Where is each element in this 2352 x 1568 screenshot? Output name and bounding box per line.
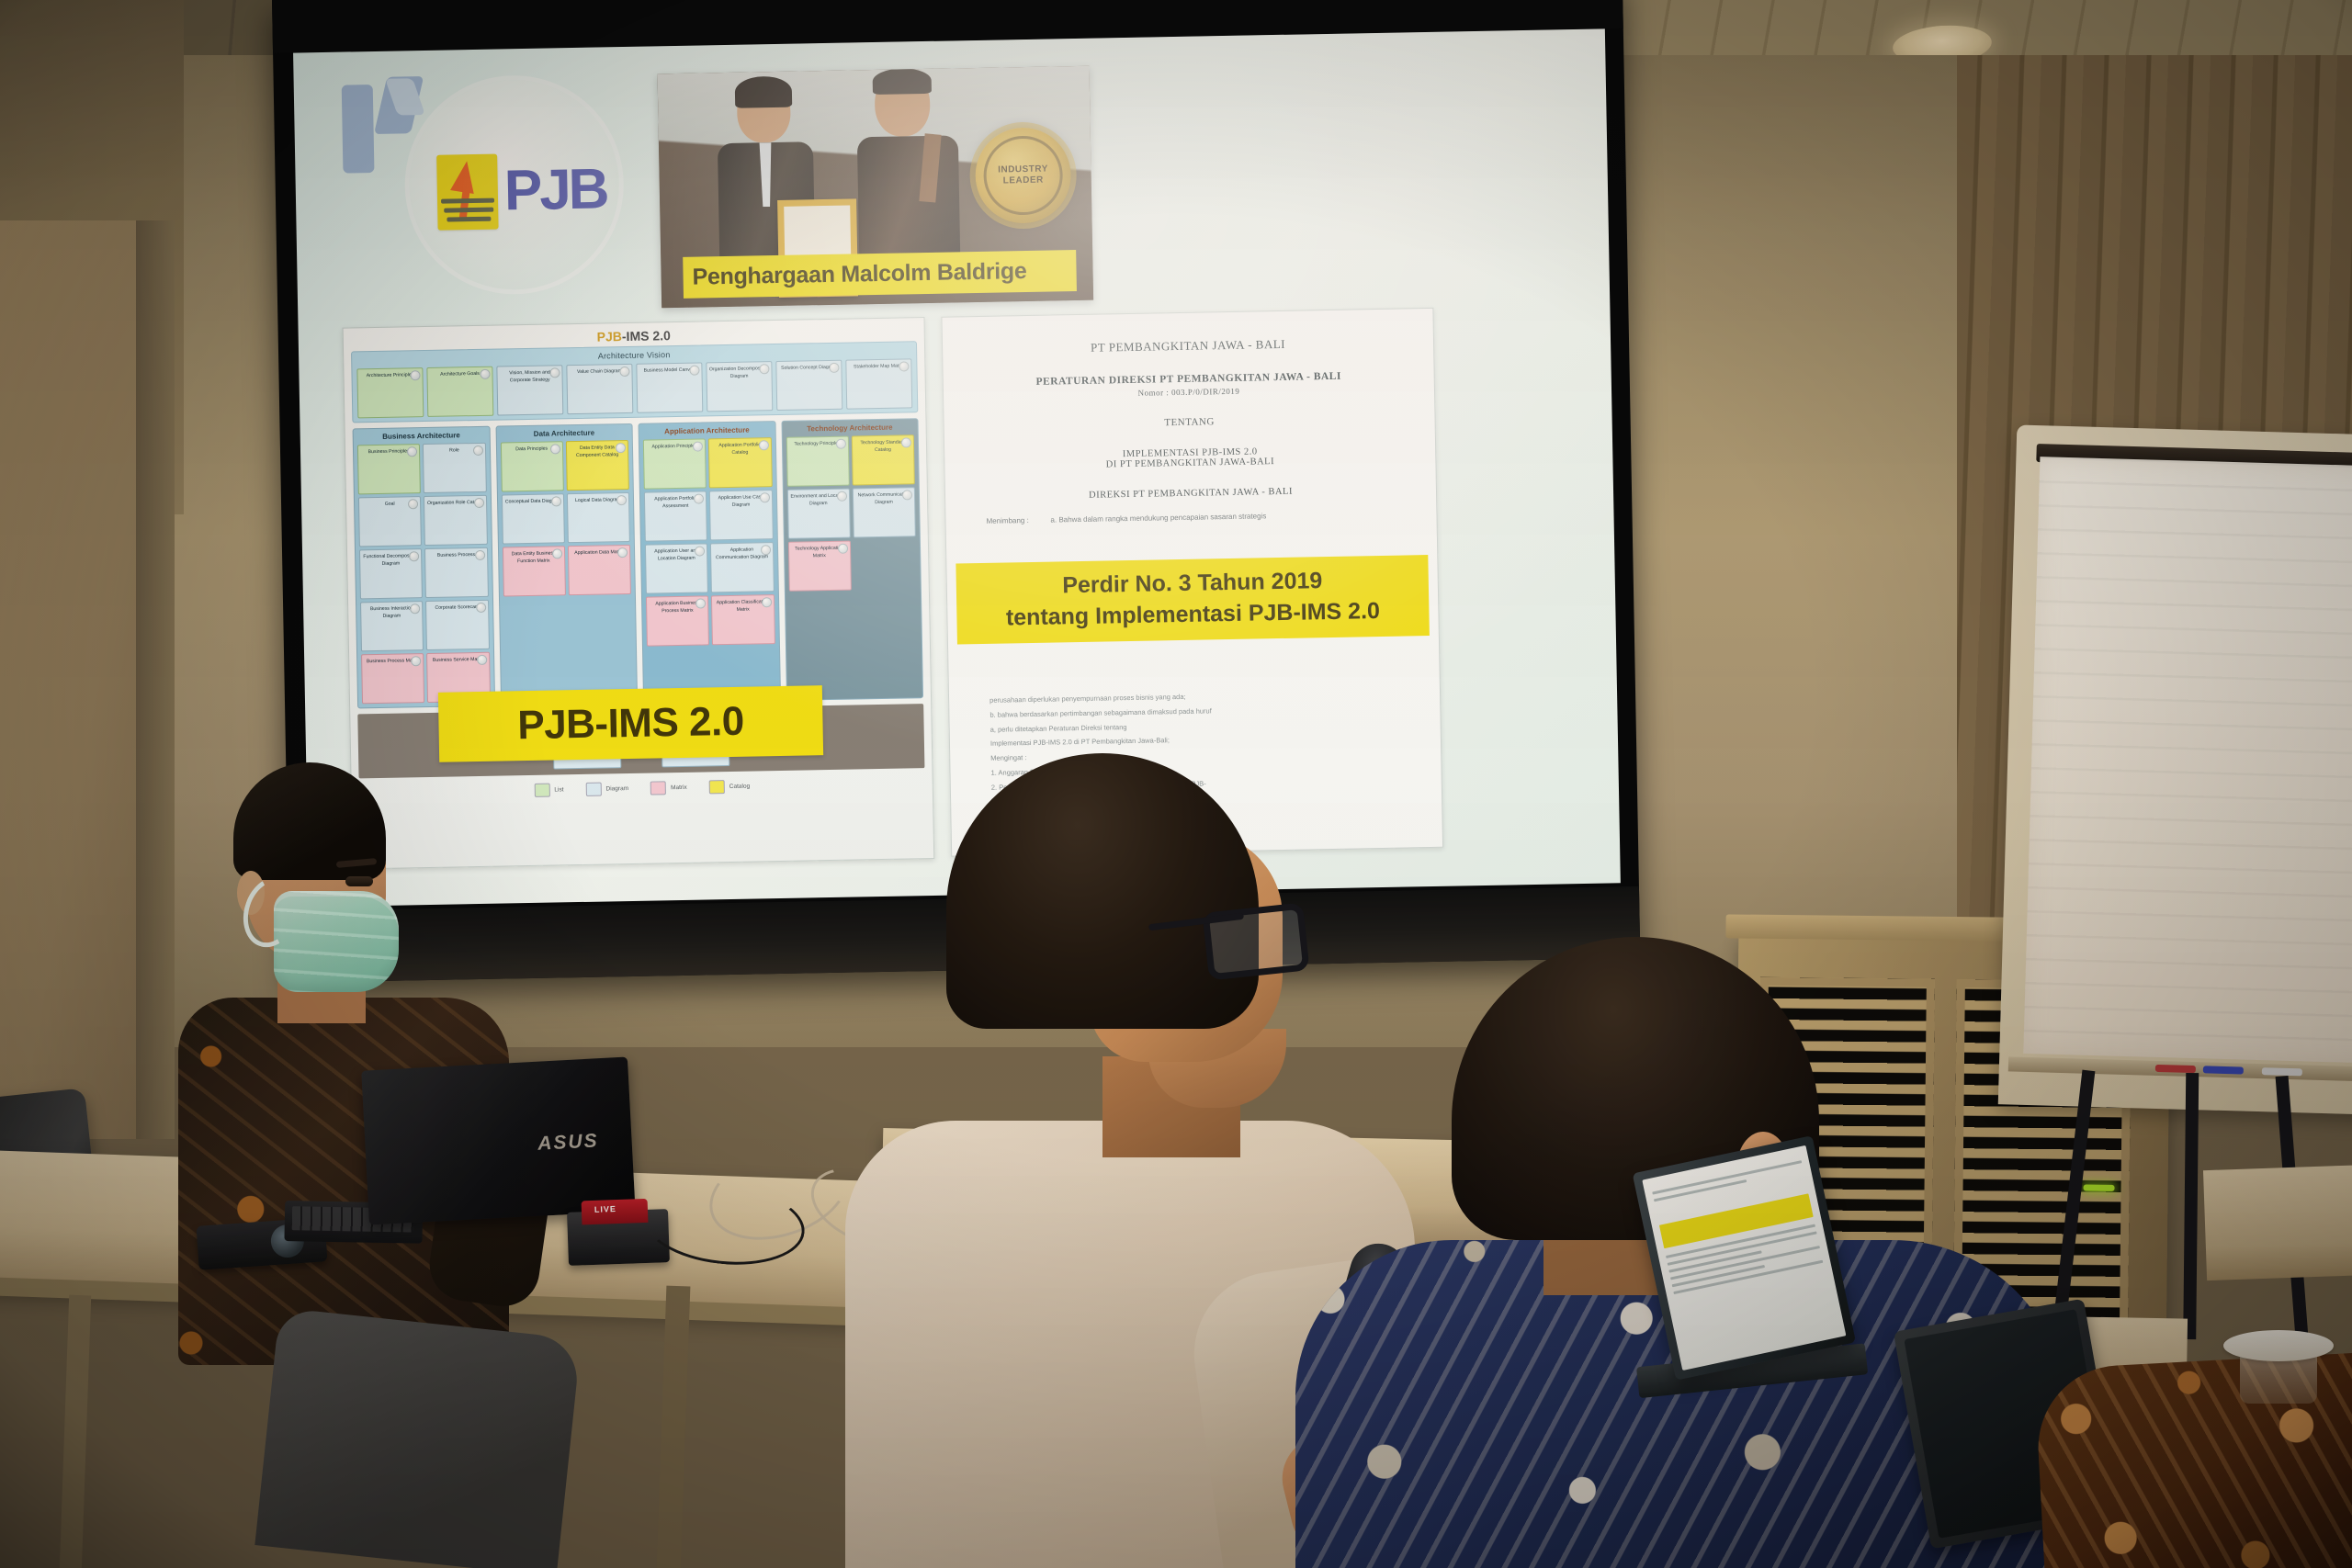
architecture-card: Data Entity Business Function Matrix (502, 546, 565, 596)
paper-cover (2223, 1330, 2334, 1361)
architecture-card: Data Principles (500, 441, 563, 491)
asus-logo: ASUS (537, 1130, 600, 1155)
table-leg (657, 1286, 691, 1568)
architecture-card: Goal (358, 496, 422, 547)
architecture-card: Role (423, 443, 486, 493)
architecture-card: Corporate Scorecard (425, 600, 489, 650)
architecture-card: Business Process Matrix (361, 653, 424, 704)
lens (1202, 902, 1309, 980)
business-architecture-column: Business Architecture Business Principle… (353, 426, 495, 709)
architecture-domain-columns: Business Architecture Business Principle… (353, 418, 923, 708)
flipchart-paper (2023, 457, 2352, 1064)
legend-item: Catalog (709, 780, 751, 795)
laptop-screen (1642, 1145, 1846, 1371)
marker-icon (2262, 1067, 2302, 1076)
architecture-card: Organization Decomposition Diagram (706, 361, 773, 412)
architecture-vision-band: Architecture Vision Architecture Princip… (351, 341, 918, 423)
architecture-card: Architecture Principles (356, 367, 424, 418)
architecture-card: Application Communication Diagram (710, 542, 774, 592)
architecture-card: Application Portfolio Catalog (708, 437, 772, 488)
pjb-ims-overlay-banner: PJB-IMS 2.0 (438, 685, 823, 762)
architecture-card: Application Business Process Matrix (646, 595, 709, 646)
architecture-title-text: -IMS 2.0 (622, 328, 671, 344)
document-company-name: PT PEMBANGKITAN JAWA - BALI (983, 335, 1393, 357)
legend-item: Matrix (650, 781, 687, 795)
application-architecture-column: Application Architecture Application Pri… (639, 421, 781, 704)
architecture-card: Business Process (424, 547, 488, 598)
architecture-card: Technology Standard Catalog (852, 434, 915, 485)
architecture-card: Logical Data Diagram (567, 492, 630, 543)
pln-lightning-icon (436, 154, 498, 231)
legend-item: Diagram (585, 782, 628, 796)
technology-architecture-column: Technology Architecture Technology Princ… (781, 418, 923, 701)
column-cards: Application Principles Application Portf… (643, 437, 775, 647)
architecture-card: Application Portfolio Assessment (644, 491, 707, 541)
eyeglasses-icon (1148, 908, 1306, 964)
architecture-card: Organization Role Catalog (424, 495, 487, 546)
architecture-card: Conceptual Data Diagram (501, 493, 564, 544)
architecture-card: Application Use Case Diagram (709, 490, 773, 540)
architecture-card: Application Principles (643, 438, 707, 489)
award-photo-card: INDUSTRY LEADER Penghargaan Malcolm Bald… (658, 66, 1094, 309)
eye (345, 876, 373, 886)
audio-interface-top: LIVE (582, 1199, 649, 1224)
wall-right-panel (1709, 138, 1975, 891)
architecture-card: Functional Decomposition Diagram (359, 548, 423, 599)
architecture-vision-cards: Architecture Principles Architecture Goa… (356, 358, 912, 418)
meeting-room-scene: PJB INDUSTRY LEADER (0, 0, 2352, 1568)
architecture-card: Business Principles (357, 444, 421, 494)
easel-leg (2183, 1073, 2199, 1339)
architecture-card: Application Classification Matrix (711, 594, 775, 645)
perdir-overlay-banner: Perdir No. 3 Tahun 2019 tentang Implemen… (955, 555, 1430, 644)
status-led-icon (2084, 1184, 2115, 1190)
architecture-card: Value Chain Diagram (566, 364, 633, 414)
award-caption: Penghargaan Malcolm Baldrige (683, 250, 1077, 299)
award-caption-text: Penghargaan Malcolm Baldrige (692, 258, 1026, 290)
marker-icon (2155, 1065, 2196, 1073)
architecture-card: Stakeholder Map Matrix (845, 358, 912, 409)
table-leg (60, 1295, 91, 1568)
architecture-card: Solution Concept Diagram (775, 360, 842, 411)
architecture-card: Application Data Matrix (568, 545, 631, 595)
architecture-card: Application User and Location Diagram (645, 543, 708, 593)
flipchart-easel (1998, 424, 2352, 1114)
data-architecture-column: Data Architecture Data Principles Data E… (495, 423, 638, 706)
architecture-card: Technology Principles (786, 436, 849, 487)
column-label: Application Architecture (643, 425, 772, 436)
laptop-right[interactable] (1633, 1128, 1896, 1398)
architecture-card: Business Interaction Diagram (360, 601, 424, 651)
award-person-right (856, 69, 961, 256)
covered-drinking-glass (2223, 1330, 2334, 1400)
legs (254, 1307, 581, 1568)
column-cards: Technology Principles Technology Standar… (786, 434, 917, 592)
column-label: Business Architecture (357, 431, 486, 442)
considering-label: Menimbang : (986, 514, 1050, 529)
architecture-card: Network Communication Diagram (853, 487, 916, 537)
pjb-ims-overlay-text: PJB-IMS 2.0 (517, 699, 744, 750)
slide-brand-area: PJB (335, 63, 652, 299)
column-cards: Business Principles Role Goal Organizati… (357, 443, 491, 705)
marker-icon (2203, 1066, 2244, 1074)
architecture-title-prefix: PJB (597, 329, 623, 344)
architecture-card: Vision, Mission and Corporate Strategy (496, 365, 563, 415)
architecture-card: Technology Application Matrix (787, 541, 851, 592)
table-far-right (2203, 1163, 2352, 1280)
considering-text: a. Bahwa dalam rangka mendukung pencapai… (1050, 512, 1266, 524)
column-label: Technology Architecture (786, 423, 914, 434)
pjb-wordmark: PJB (503, 161, 607, 220)
architecture-card: Architecture Goals (426, 367, 493, 417)
hair (946, 753, 1259, 1029)
pjb-logo: PJB (436, 152, 607, 230)
column-label: Data Architecture (500, 428, 628, 439)
column-cards: Data Principles Data Entity Data Compone… (500, 440, 631, 597)
wall-column (0, 220, 136, 1139)
architecture-card: Environment and Location Diagram (786, 489, 850, 539)
architecture-card: Data Entity Data Component Catalog (566, 440, 629, 491)
watermark-shape (342, 75, 452, 178)
architecture-card: Business Model Canvas (636, 362, 703, 412)
